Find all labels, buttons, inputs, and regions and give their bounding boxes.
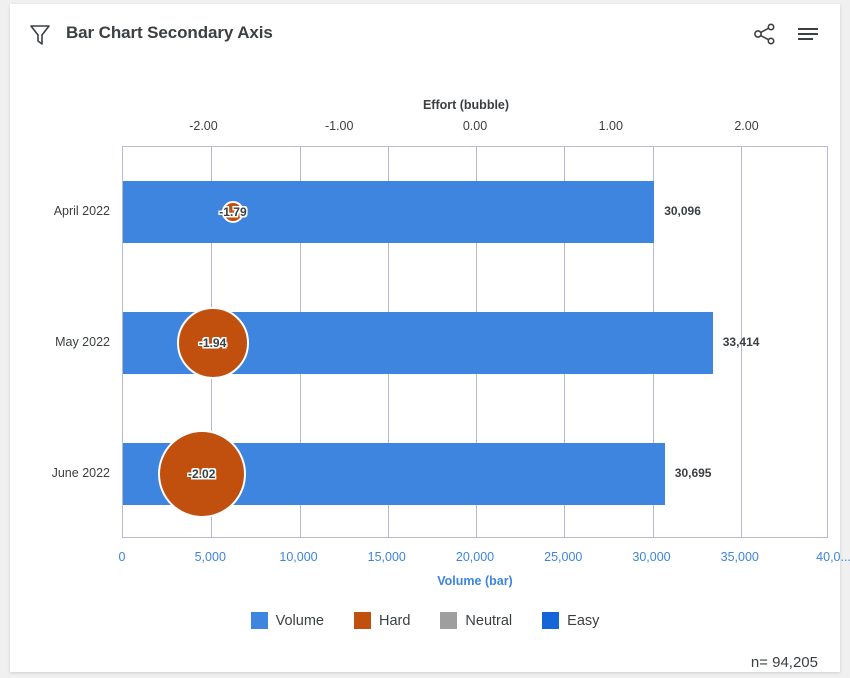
value-axis-tick: 35,000: [721, 550, 759, 564]
value-axis-tick: 5,000: [195, 550, 226, 564]
sample-size-label: n= 94,205: [751, 654, 818, 671]
legend-item[interactable]: Neutral: [440, 612, 512, 629]
share-icon[interactable]: [752, 21, 778, 47]
legend-swatch: [251, 612, 268, 629]
value-axis-tick: 30,000: [632, 550, 670, 564]
legend-label: Easy: [567, 613, 599, 629]
bar-value-label: 30,695: [675, 466, 712, 480]
value-axis-tick: 10,000: [279, 550, 317, 564]
secondary-axis-tick: 2.00: [734, 119, 758, 133]
secondary-axis-tick: -2.00: [189, 119, 218, 133]
bubble-value-label: -2.02: [188, 467, 215, 481]
chart-legend: VolumeHardNeutralEasy: [10, 612, 840, 629]
value-axis-tick: 15,000: [368, 550, 406, 564]
hamburger-menu-icon[interactable]: [795, 21, 821, 47]
bubble-value-label: -1.94: [199, 336, 226, 350]
value-axis-tick: 20,000: [456, 550, 494, 564]
category-label: May 2022: [14, 335, 110, 349]
chart-plot-region: Effort (bubble) -2.00-1.000.001.002.00 A…: [10, 66, 840, 672]
legend-item[interactable]: Volume: [251, 612, 324, 629]
legend-label: Hard: [379, 613, 410, 629]
page-title: Bar Chart Secondary Axis: [66, 23, 273, 43]
legend-label: Volume: [276, 613, 324, 629]
legend-item[interactable]: Easy: [542, 612, 599, 629]
legend-swatch: [440, 612, 457, 629]
card-header: Bar Chart Secondary Axis: [10, 4, 840, 66]
legend-item[interactable]: Hard: [354, 612, 410, 629]
bubble-value-label: -1.79: [219, 205, 246, 219]
value-axis-tick: 25,000: [544, 550, 582, 564]
value-axis-tick: 0: [119, 550, 126, 564]
filter-funnel-icon[interactable]: [28, 22, 52, 48]
value-axis-title: Volume (bar): [122, 574, 828, 588]
category-label: April 2022: [14, 204, 110, 218]
legend-swatch: [354, 612, 371, 629]
value-axis-tick: 40,0...: [816, 550, 850, 564]
legend-label: Neutral: [465, 613, 512, 629]
secondary-axis-tick: 1.00: [599, 119, 623, 133]
category-label: June 2022: [14, 466, 110, 480]
secondary-axis-title: Effort (bubble): [112, 98, 820, 112]
bar-value-label: 30,096: [664, 204, 701, 218]
secondary-axis-tick: -1.00: [325, 119, 354, 133]
secondary-axis-tick: 0.00: [463, 119, 487, 133]
chart-card: Bar Chart Secondary Axis Effort (bubble)…: [10, 4, 840, 672]
bar-value-label: 33,414: [723, 335, 760, 349]
legend-swatch: [542, 612, 559, 629]
bar[interactable]: [123, 181, 654, 243]
category-axis: April 2022May 2022June 2022: [10, 146, 110, 538]
